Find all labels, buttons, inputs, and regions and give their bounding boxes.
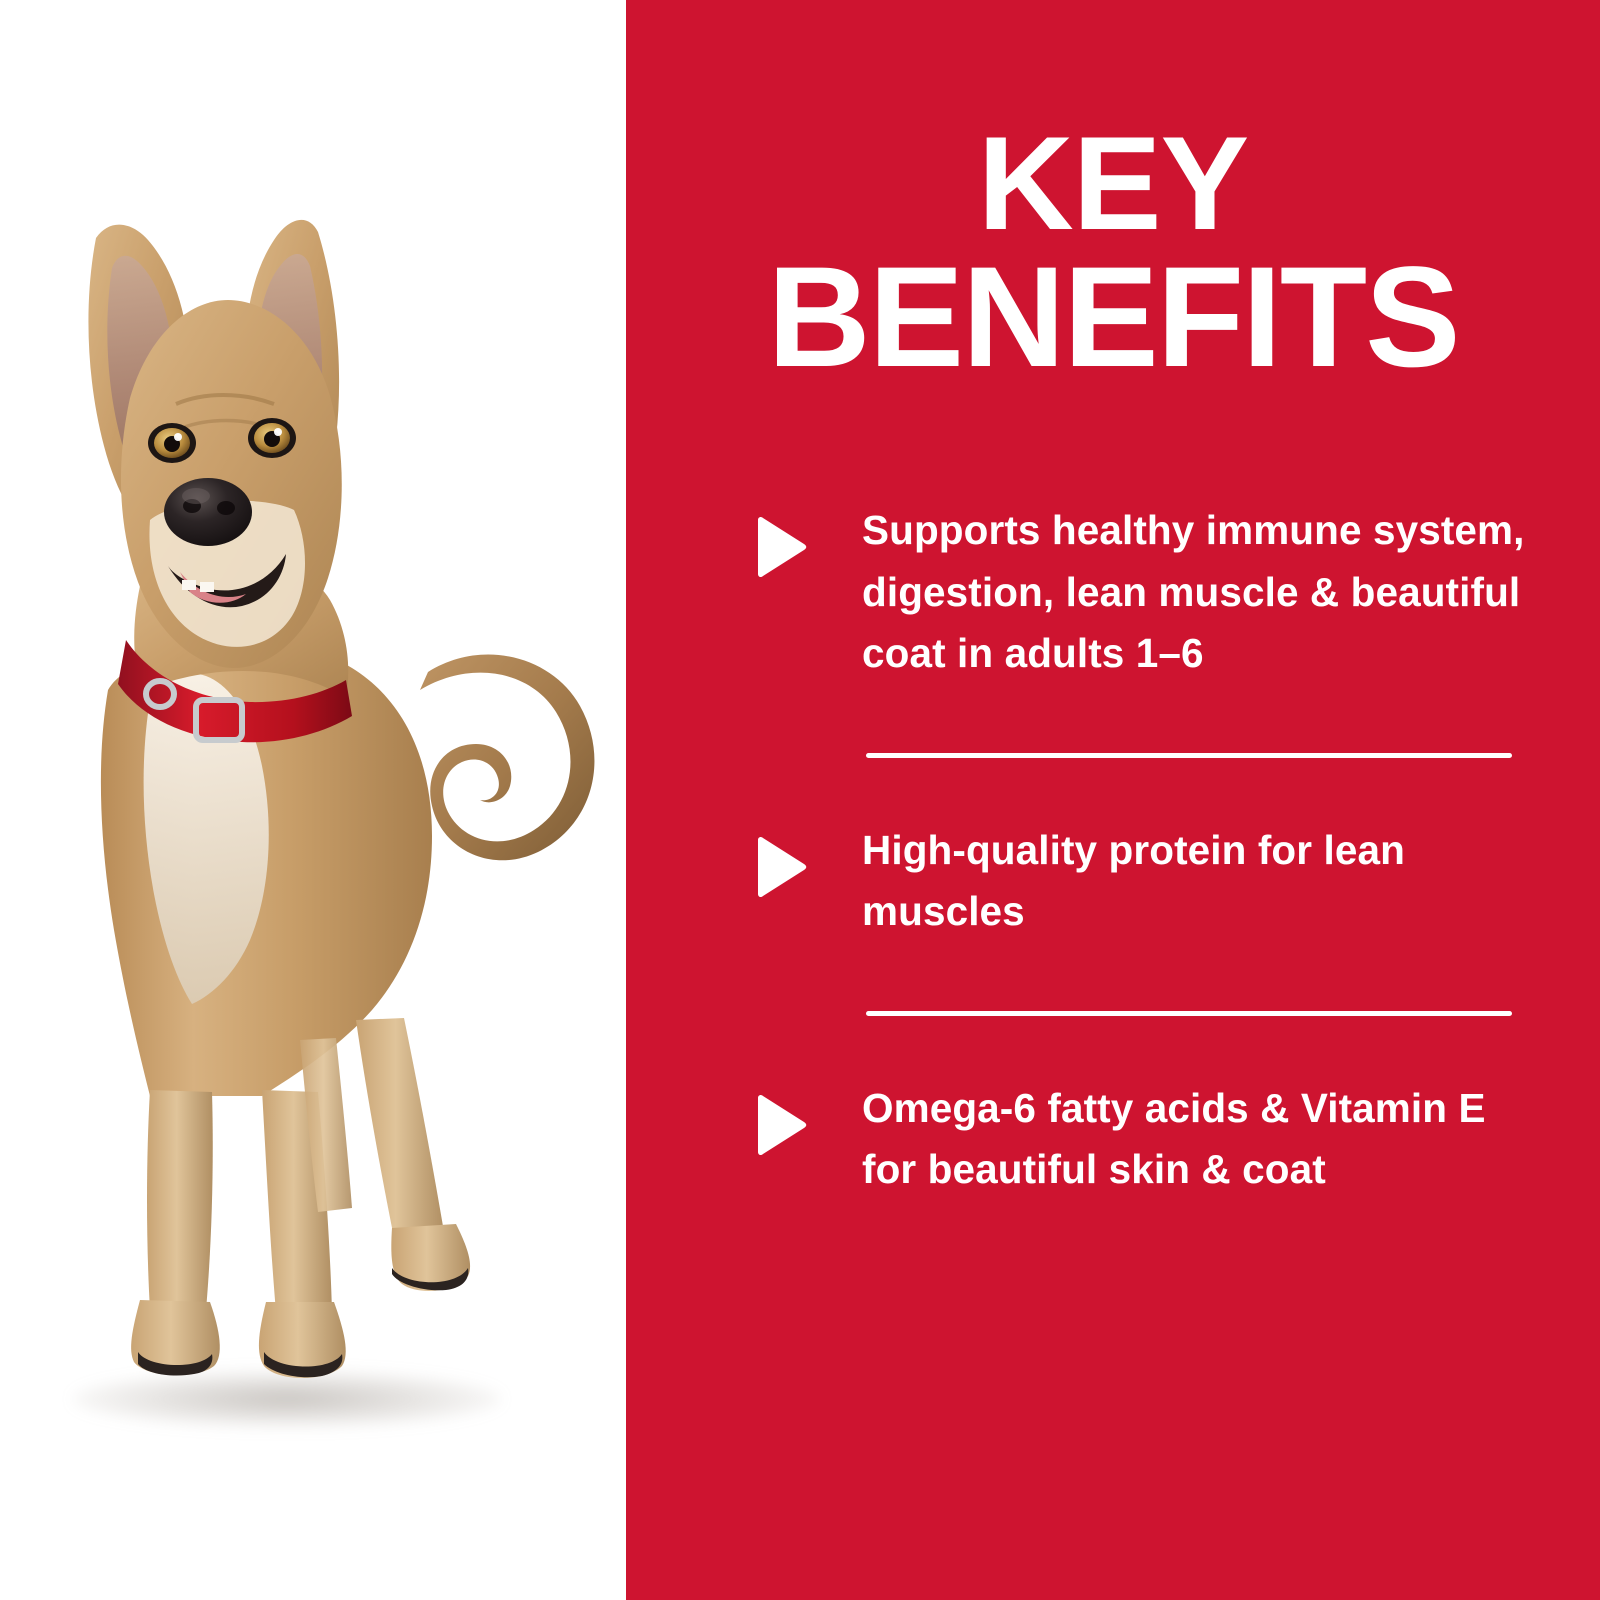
dog-nose — [164, 478, 252, 546]
dog-nose-highlight — [182, 488, 210, 504]
title-line-key: KEY — [644, 120, 1582, 249]
benefit-item-1: Supports healthy immune system, digestio… — [752, 500, 1532, 685]
benefit-text-1: Supports healthy immune system, digestio… — [862, 500, 1532, 685]
key-benefits-graphic: KEY BENEFITS Supports healthy immune sys… — [0, 0, 1600, 1600]
dog-hind-leg-right — [356, 1018, 444, 1238]
triangle-right-icon — [752, 500, 808, 578]
benefit-text-2: High-quality protein for lean muscles — [862, 820, 1532, 943]
spacer-1 — [752, 685, 1532, 753]
spacer-4 — [752, 1016, 1532, 1078]
benefit-text-3: Omega-6 fatty acids & Vitamin E for beau… — [862, 1078, 1532, 1201]
dog-nostril-right — [217, 501, 235, 515]
dog-illustration — [0, 0, 626, 1600]
triangle-right-icon — [752, 1078, 808, 1156]
title-line-benefits: BENEFITS — [644, 249, 1582, 388]
dog-front-leg-left — [147, 1090, 213, 1310]
page-title: KEY BENEFITS — [626, 120, 1600, 388]
spacer-2 — [752, 758, 1532, 820]
benefits-list: Supports healthy immune system, digestio… — [752, 500, 1532, 1201]
dog-tail — [420, 655, 594, 861]
benefits-panel: KEY BENEFITS Supports healthy immune sys… — [626, 0, 1600, 1600]
triangle-right-icon — [752, 820, 808, 898]
dog-photo — [0, 0, 626, 1600]
benefit-item-2: High-quality protein for lean muscles — [752, 820, 1532, 943]
dog-photo-panel — [0, 0, 626, 1600]
spacer-3 — [752, 943, 1532, 1011]
benefit-item-3: Omega-6 fatty acids & Vitamin E for beau… — [752, 1078, 1532, 1201]
dog-eye-right-highlight — [274, 428, 282, 436]
dog-eye-left-highlight — [174, 433, 182, 441]
